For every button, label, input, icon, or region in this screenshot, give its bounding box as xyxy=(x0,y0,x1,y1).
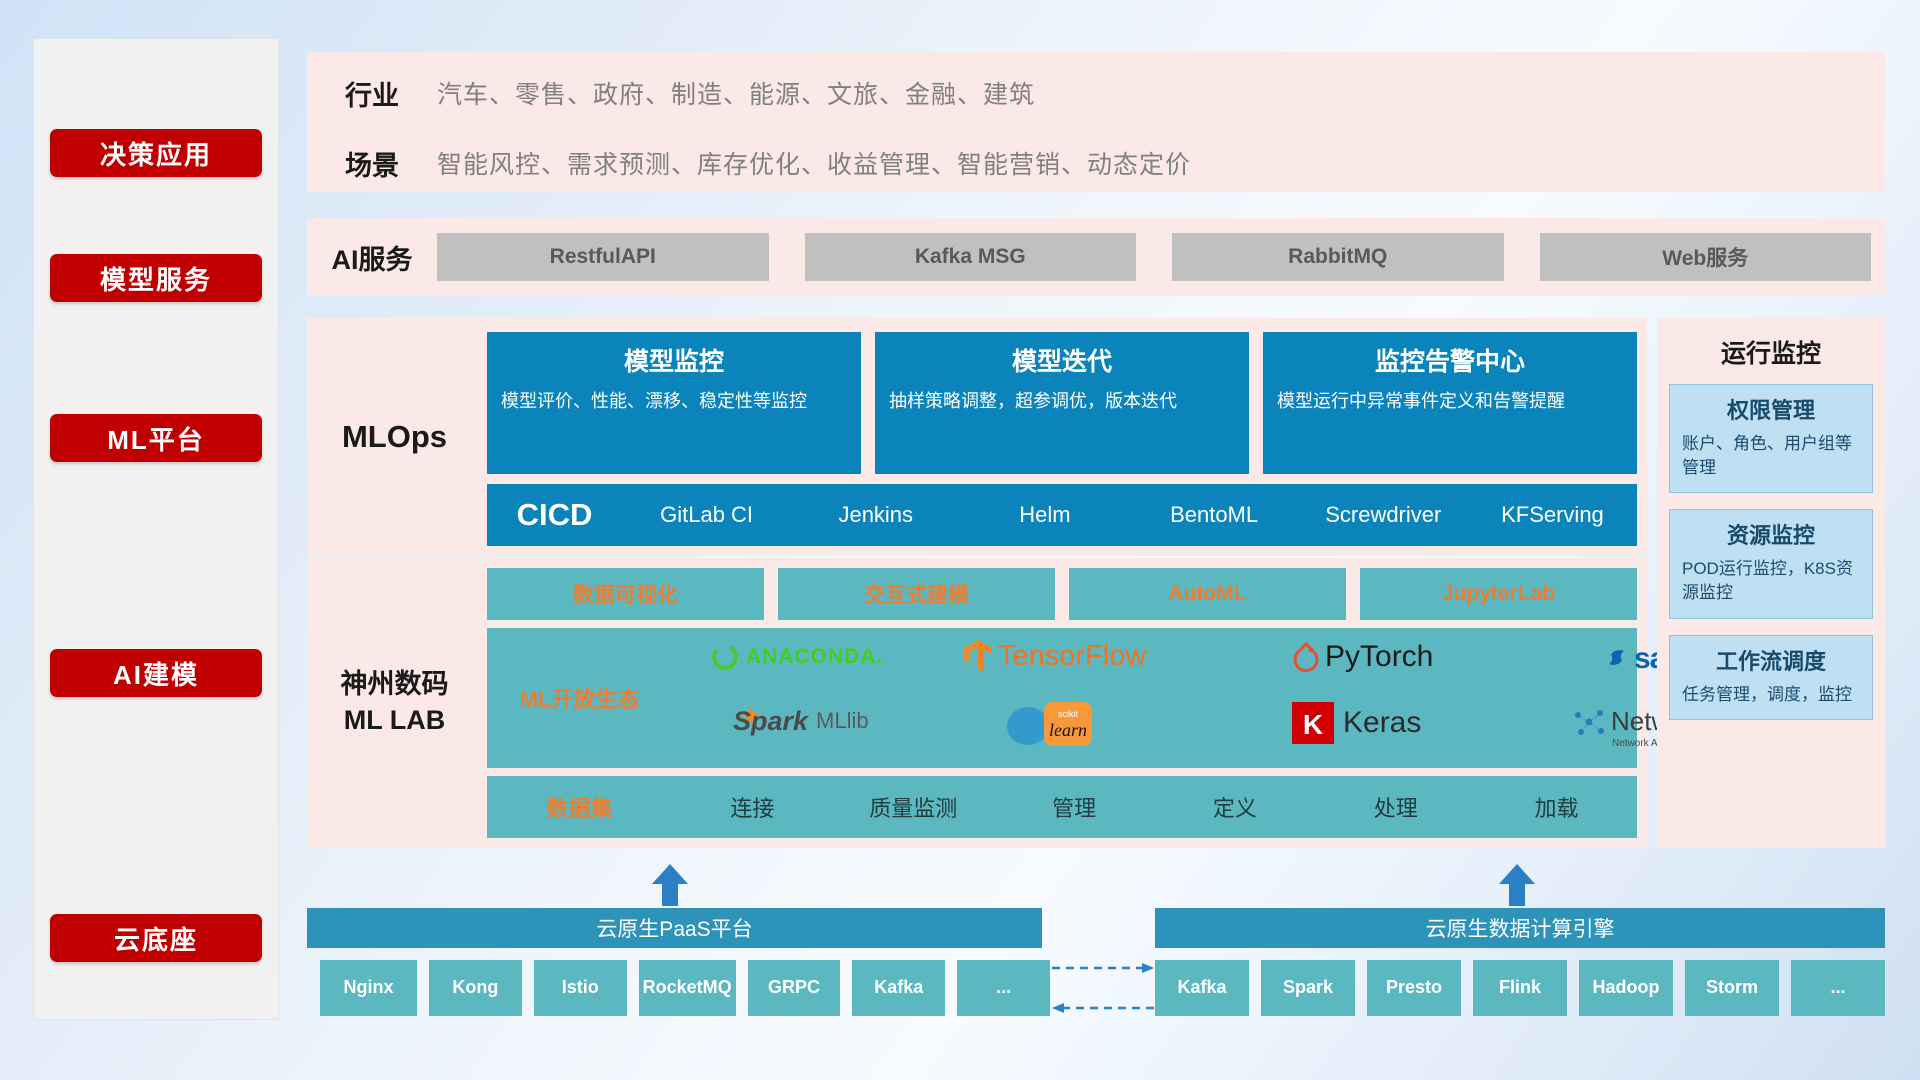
cicd-item-list: GitLab CI Jenkins Helm BentoML Screwdriv… xyxy=(622,503,1637,526)
paas-platform-bar[interactable]: 云原生PaaS平台 xyxy=(307,908,1042,948)
rail-chip-ml-platform[interactable]: ML平台 xyxy=(50,414,262,462)
pill-nginx[interactable]: Nginx xyxy=(320,960,417,1016)
tab-interactive-modeling[interactable]: 交互式建模 xyxy=(778,568,1055,620)
dataset-item-process[interactable]: 处理 xyxy=(1315,791,1476,823)
arrow-up-compute xyxy=(1495,862,1539,902)
arrow-up-paas xyxy=(648,862,692,902)
anaconda-icon xyxy=(710,642,740,672)
ml-ecosystem-logos: ANACONDA. TensorFlow PyTorch xyxy=(672,628,1637,768)
svg-text:K: K xyxy=(1303,709,1323,740)
compute-pill-row: Kafka Spark Presto Flink Hadoop Storm ..… xyxy=(1155,960,1885,1016)
pytorch-icon xyxy=(1292,642,1320,672)
pill-presto[interactable]: Presto xyxy=(1367,960,1461,1016)
up-arrow-icon xyxy=(1495,862,1539,906)
card-title: 工作流调度 xyxy=(1682,644,1860,676)
mlops-card-model-iteration[interactable]: 模型迭代 抽样策略调整，超参调优，版本迭代 xyxy=(875,332,1249,474)
card-desc: 抽样策略调整，超参调优，版本迭代 xyxy=(889,388,1235,414)
cicd-item-gitlab-ci[interactable]: GitLab CI xyxy=(622,503,791,526)
spark-mllib-logo: Spark MLlib xyxy=(727,704,869,738)
industry-row: 行业 汽车、零售、政府、制造、能源、文旅、金融、建筑 xyxy=(307,58,1885,128)
industry-value: 汽车、零售、政府、制造、能源、文旅、金融、建筑 xyxy=(437,75,1035,111)
rail-chip-model-service[interactable]: 模型服务 xyxy=(50,254,262,302)
cicd-item-screwdriver[interactable]: Screwdriver xyxy=(1299,503,1468,526)
runtime-monitoring-title: 运行监控 xyxy=(1657,318,1885,384)
pytorch-logo: PyTorch xyxy=(1292,640,1433,674)
scikit-learn-logo: scikit learn xyxy=(1002,700,1106,748)
card-title: 资源监控 xyxy=(1682,518,1860,550)
cicd-item-jenkins[interactable]: Jenkins xyxy=(791,503,960,526)
pill-spark[interactable]: Spark xyxy=(1261,960,1355,1016)
scenario-key: 场景 xyxy=(307,144,437,183)
ml-lab-key-line2: ML LAB xyxy=(344,703,446,739)
networkx-icon xyxy=(1572,707,1606,737)
keras-icon: K xyxy=(1292,702,1334,744)
mlops-band: MLOps 模型监控 模型评价、性能、漂移、稳定性等监控 模型迭代 抽样策略调整… xyxy=(307,318,1647,556)
ml-ecosystem-row: ML开放生态 ANACONDA. TensorFlow xyxy=(487,628,1637,768)
rail-chip-label: 决策应用 xyxy=(100,135,212,172)
card-desc: 任务管理，调度，监控 xyxy=(1682,683,1860,707)
cicd-title: CICD xyxy=(487,497,622,533)
rail-chip-label: AI建模 xyxy=(113,655,199,692)
tensorflow-icon xyxy=(962,638,994,674)
pill-grpc[interactable]: GRPC xyxy=(748,960,841,1016)
ai-service-band: AI服务 RestfulAPI Kafka MSG RabbitMQ Web服务 xyxy=(307,218,1885,296)
pill-flink[interactable]: Flink xyxy=(1473,960,1567,1016)
svg-text:learn: learn xyxy=(1049,720,1087,740)
card-desc: 模型运行中异常事件定义和告警提醒 xyxy=(1277,388,1623,414)
industry-key: 行业 xyxy=(307,74,437,113)
tensorflow-label: TensorFlow xyxy=(998,640,1146,673)
service-rabbitmq[interactable]: RabbitMQ xyxy=(1172,233,1504,281)
pill-hadoop[interactable]: Hadoop xyxy=(1579,960,1673,1016)
card-desc: POD运行监控，K8S资源监控 xyxy=(1682,557,1860,605)
paas-pill-row: Nginx Kong Istio RocketMQ GRPC Kafka ... xyxy=(320,960,1050,1016)
card-workflow-scheduling[interactable]: 工作流调度 任务管理，调度，监控 xyxy=(1669,635,1873,720)
cicd-item-bentoml[interactable]: BentoML xyxy=(1130,503,1299,526)
card-permission-management[interactable]: 权限管理 账户、角色、用户组等管理 xyxy=(1669,384,1873,493)
left-rail: 决策应用 模型服务 ML平台 AI建模 云底座 xyxy=(33,38,279,1020)
card-title: 模型迭代 xyxy=(889,342,1235,378)
rail-chip-label: 模型服务 xyxy=(100,260,212,297)
cicd-row: CICD GitLab CI Jenkins Helm BentoML Scre… xyxy=(487,484,1637,546)
svg-text:scikit: scikit xyxy=(1058,709,1078,719)
anaconda-label: ANACONDA. xyxy=(746,645,883,669)
anaconda-logo: ANACONDA. xyxy=(710,642,883,672)
compute-engine-bar[interactable]: 云原生数据计算引擎 xyxy=(1155,908,1885,948)
card-desc: 账户、角色、用户组等管理 xyxy=(1682,432,1860,480)
ml-lab-key: 神州数码 ML LAB xyxy=(307,558,482,848)
architecture-diagram: 决策应用 模型服务 ML平台 AI建模 云底座 行业 汽车、零售、政府、制造、能… xyxy=(0,0,1920,1080)
pill-storm[interactable]: Storm xyxy=(1685,960,1779,1016)
ai-modeling-band: 神州数码 ML LAB 数据可视化 交互式建模 AutoML JupyterLa… xyxy=(307,558,1647,848)
rail-chip-ai-modeling[interactable]: AI建模 xyxy=(50,649,262,697)
mlops-key: MLOps xyxy=(307,318,482,556)
pill-kong[interactable]: Kong xyxy=(429,960,522,1016)
card-desc: 模型评价、性能、漂移、稳定性等监控 xyxy=(501,388,847,414)
rail-chip-label: 云底座 xyxy=(114,920,198,957)
rail-chip-label: ML平台 xyxy=(107,420,205,457)
dataset-row: 数据集 连接 质量监测 管理 定义 处理 加载 xyxy=(487,776,1637,838)
scenario-row: 场景 智能风控、需求预测、库存优化、收益管理、智能营销、动态定价 xyxy=(307,128,1885,198)
runtime-monitoring-column: 运行监控 权限管理 账户、角色、用户组等管理 资源监控 POD运行监控，K8S资… xyxy=(1657,318,1885,848)
tab-jupyterlab[interactable]: JupyterLab xyxy=(1360,568,1637,620)
cicd-item-kfserving[interactable]: KFServing xyxy=(1468,503,1637,526)
keras-logo: K Keras xyxy=(1292,702,1421,744)
tab-automl[interactable]: AutoML xyxy=(1069,568,1346,620)
card-title: 监控告警中心 xyxy=(1277,342,1623,378)
tensorflow-logo: TensorFlow xyxy=(962,638,1146,674)
ai-service-list: RestfulAPI Kafka MSG RabbitMQ Web服务 xyxy=(437,233,1885,281)
ml-lab-tabs: 数据可视化 交互式建模 AutoML JupyterLab xyxy=(487,568,1637,620)
rail-chip-cloud-base[interactable]: 云底座 xyxy=(50,914,262,962)
service-kafka-msg[interactable]: Kafka MSG xyxy=(805,233,1137,281)
up-arrow-icon xyxy=(648,862,692,906)
service-web[interactable]: Web服务 xyxy=(1540,233,1872,281)
dataset-item-define[interactable]: 定义 xyxy=(1154,791,1315,823)
card-title: 模型监控 xyxy=(501,342,847,378)
dashed-arrow-icon xyxy=(1048,952,1158,1032)
scikit-learn-icon: scikit learn xyxy=(1002,700,1106,748)
scenario-value: 智能风控、需求预测、库存优化、收益管理、智能营销、动态定价 xyxy=(437,145,1191,181)
dataset-item-manage[interactable]: 管理 xyxy=(994,791,1155,823)
pill-more[interactable]: ... xyxy=(957,960,1050,1016)
mlops-card-row: 模型监控 模型评价、性能、漂移、稳定性等监控 模型迭代 抽样策略调整，超参调优，… xyxy=(487,332,1637,474)
pill-kafka[interactable]: Kafka xyxy=(852,960,945,1016)
ml-lab-key-line1: 神州数码 xyxy=(341,667,449,703)
industry-scenario-band: 行业 汽车、零售、政府、制造、能源、文旅、金融、建筑 场景 智能风控、需求预测、… xyxy=(307,52,1885,192)
keras-label: Keras xyxy=(1343,706,1421,740)
pill-kafka-compute[interactable]: Kafka xyxy=(1155,960,1249,1016)
pill-istio[interactable]: Istio xyxy=(534,960,627,1016)
dataset-label: 数据集 xyxy=(487,791,672,823)
dataset-item-load[interactable]: 加载 xyxy=(1476,791,1637,823)
dataset-item-list: 连接 质量监测 管理 定义 处理 加载 xyxy=(672,791,1637,823)
sas-icon xyxy=(1602,644,1632,674)
dataset-item-connect[interactable]: 连接 xyxy=(672,791,833,823)
mlops-card-model-monitoring[interactable]: 模型监控 模型评价、性能、漂移、稳定性等监控 xyxy=(487,332,861,474)
cicd-item-helm[interactable]: Helm xyxy=(960,503,1129,526)
pytorch-label: PyTorch xyxy=(1325,640,1433,674)
rail-chip-decision-app[interactable]: 决策应用 xyxy=(50,129,262,177)
card-title: 权限管理 xyxy=(1682,393,1860,425)
card-resource-monitoring[interactable]: 资源监控 POD运行监控，K8S资源监控 xyxy=(1669,509,1873,618)
dashed-connectors xyxy=(1048,952,1148,1022)
mlops-card-alert-center[interactable]: 监控告警中心 模型运行中异常事件定义和告警提醒 xyxy=(1263,332,1637,474)
dataset-item-quality[interactable]: 质量监测 xyxy=(833,791,994,823)
tab-data-visualization[interactable]: 数据可视化 xyxy=(487,568,764,620)
pill-more-compute[interactable]: ... xyxy=(1791,960,1885,1016)
ml-ecosystem-label: ML开放生态 xyxy=(487,682,672,714)
service-restfulapi[interactable]: RestfulAPI xyxy=(437,233,769,281)
pill-rocketmq[interactable]: RocketMQ xyxy=(639,960,736,1016)
ai-service-key: AI服务 xyxy=(307,238,437,277)
